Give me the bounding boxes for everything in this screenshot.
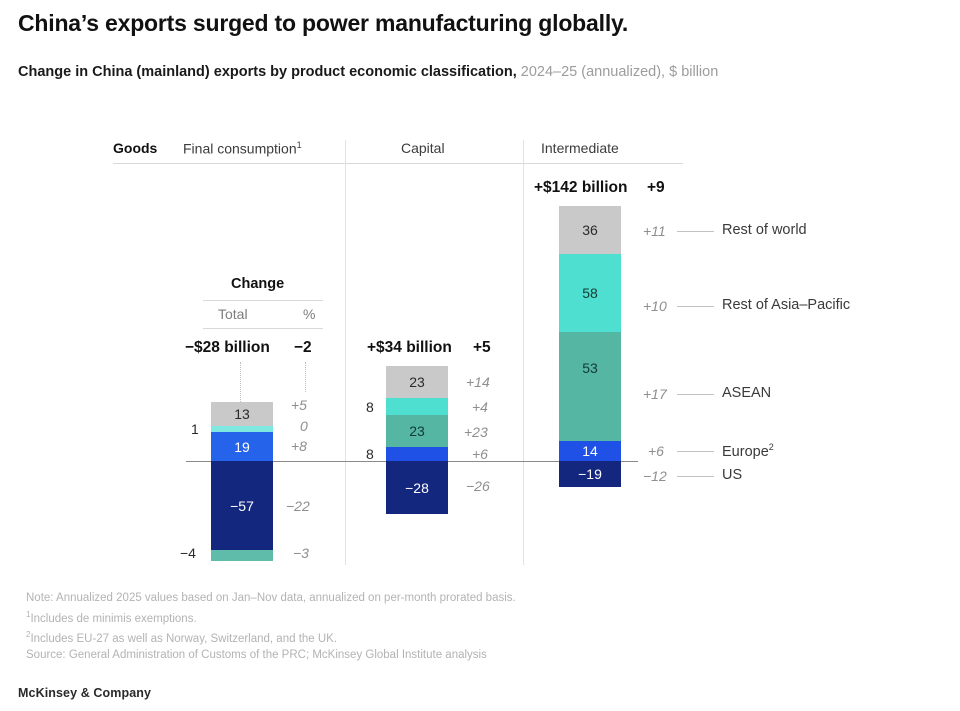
value-label-capital-europe: 8 bbox=[366, 446, 374, 462]
value-label-final-consumption-us: −4 bbox=[180, 545, 196, 561]
change-header-title: Change bbox=[231, 276, 284, 292]
column-header-capital: Capital bbox=[401, 140, 445, 156]
pct-final-consumption-europe: −22 bbox=[286, 498, 310, 514]
pct-capital-asean: +23 bbox=[464, 424, 488, 440]
footnotes: Note: Annualized 2025 values based on Ja… bbox=[26, 590, 726, 664]
bar-segment-final-consumption-asean: 19 bbox=[211, 432, 273, 461]
legend-label-europe: Europe2 bbox=[722, 442, 774, 460]
bar-segment-intermediate-rest-of-world: 36 bbox=[559, 206, 621, 254]
column-header-intermediate: Intermediate bbox=[541, 140, 619, 156]
pct-intermediate-europe: +6 bbox=[648, 443, 664, 459]
pct-capital-us: −26 bbox=[466, 478, 490, 494]
legend-label-asean: ASEAN bbox=[722, 385, 771, 401]
value-label-final-consumption-rest-of-asia-pacific: 1 bbox=[191, 421, 199, 437]
bar-segment-final-consumption-rest-of-world: 13 bbox=[211, 402, 273, 426]
legend-connector-europe bbox=[677, 451, 714, 452]
legend-connector-rest-of-world bbox=[677, 231, 714, 232]
footnote-2: 2Includes EU-27 as well as Norway, Switz… bbox=[26, 627, 726, 647]
chart-page: China’s exports surged to power manufact… bbox=[0, 0, 960, 711]
legend-connector-rest-of-asia-pacific bbox=[677, 306, 714, 307]
leader-line-total bbox=[240, 362, 242, 402]
column-divider-1 bbox=[345, 140, 346, 565]
pct-final-consumption-rest-of-world: +5 bbox=[291, 397, 307, 413]
total-pct-final-consumption: −2 bbox=[294, 339, 312, 357]
change-header-total: Total bbox=[218, 306, 248, 322]
pct-final-consumption-asean: +8 bbox=[291, 438, 307, 454]
total-capital: +$34 billion bbox=[367, 339, 452, 357]
change-header-rule-bottom bbox=[203, 328, 323, 329]
pct-final-consumption-rest-of-asia-pacific: 0 bbox=[300, 418, 308, 434]
change-header-rule-top bbox=[203, 300, 323, 301]
bar-segment-capital-us: −28 bbox=[386, 461, 448, 514]
pct-intermediate-rest-of-asia-pacific: +10 bbox=[643, 298, 667, 314]
value-label-capital-rest-of-asia-pacific: 8 bbox=[366, 399, 374, 415]
column-header-final-consumption: Final consumption1 bbox=[183, 140, 302, 157]
header-divider bbox=[113, 163, 683, 164]
change-header-percent: % bbox=[303, 306, 315, 322]
bar-segment-capital-asean: 23 bbox=[386, 415, 448, 447]
bar-segment-capital-rest-of-asia-pacific bbox=[386, 398, 448, 415]
bar-segment-final-consumption-us bbox=[211, 550, 273, 561]
footnote-source: Source: General Administration of Custom… bbox=[26, 647, 726, 664]
footnote-note: Note: Annualized 2025 values based on Ja… bbox=[26, 590, 726, 607]
total-final-consumption: −$28 billion bbox=[185, 339, 270, 357]
column-divider-2 bbox=[523, 140, 524, 565]
bar-segment-intermediate-rest-of-asia-pacific: 58 bbox=[559, 254, 621, 332]
total-intermediate: +$142 billion bbox=[534, 179, 627, 197]
bar-segment-capital-rest-of-world: 23 bbox=[386, 366, 448, 398]
pct-capital-rest-of-world: +14 bbox=[466, 374, 490, 390]
pct-intermediate-asean: +17 bbox=[643, 386, 667, 402]
leader-line-pct bbox=[305, 362, 307, 392]
pct-intermediate-rest-of-world: +11 bbox=[643, 223, 666, 239]
bar-segment-intermediate-us: −19 bbox=[559, 461, 621, 487]
legend-label-us: US bbox=[722, 467, 742, 483]
pct-capital-rest-of-asia-pacific: +4 bbox=[472, 399, 488, 415]
legend-connector-asean bbox=[677, 394, 714, 395]
footnote-1: 1Includes de minimis exemptions. bbox=[26, 607, 726, 627]
bar-segment-intermediate-asean: 53 bbox=[559, 332, 621, 403]
brand-logo: McKinsey & Company bbox=[18, 686, 151, 700]
bar-segment-final-consumption-europe: −57 bbox=[211, 461, 273, 550]
bar-segment-intermediate-europe: 14 bbox=[559, 441, 621, 461]
pct-intermediate-us: −12 bbox=[643, 468, 667, 484]
bar-segment-intermediate-asean-extension bbox=[559, 403, 621, 441]
total-pct-capital: +5 bbox=[473, 339, 491, 357]
legend-label-rest-of-world: Rest of world bbox=[722, 222, 807, 238]
legend-label-rest-of-asia-pacific: Rest of Asia–Pacific bbox=[722, 297, 850, 313]
legend-connector-us bbox=[677, 476, 714, 477]
goods-axis-label: Goods bbox=[113, 140, 157, 156]
bar-segment-capital-europe bbox=[386, 447, 448, 461]
pct-capital-europe: +6 bbox=[472, 446, 488, 462]
total-pct-intermediate: +9 bbox=[647, 179, 665, 197]
pct-final-consumption-us: −3 bbox=[293, 545, 309, 561]
